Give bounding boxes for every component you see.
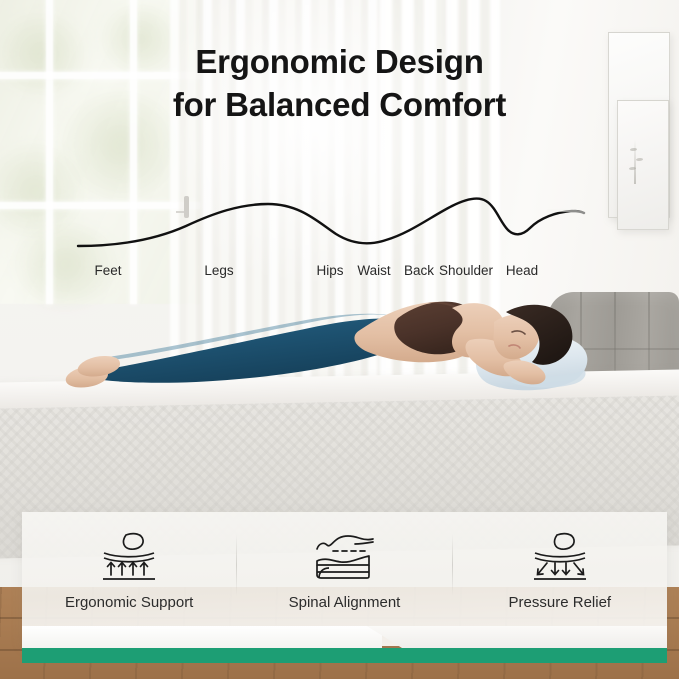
feature-label: Spinal Alignment [289,594,401,611]
label-back: Back [404,263,434,278]
pressure-relief-icon [529,530,591,582]
label-hips: Hips [316,263,343,278]
panel-bevel-left [22,626,382,648]
feature-pressure-relief: Pressure Relief [453,512,667,626]
curve-marker-icon [176,196,189,218]
label-head: Head [506,263,538,278]
accent-bar [22,648,667,663]
feature-spinal-alignment: Spinal Alignment [237,512,451,626]
label-feet: Feet [94,263,121,278]
feature-label: Ergonomic Support [65,594,193,611]
label-shoulder: Shoulder [439,263,493,278]
label-legs: Legs [204,263,233,278]
feature-label: Pressure Relief [509,594,612,611]
ergonomic-support-icon [98,530,160,582]
feature-list: Ergonomic Support Spinal [22,512,667,626]
label-waist: Waist [357,263,390,278]
product-hero-image: Ergonomic Design for Balanced Comfort Fe… [0,0,679,679]
feature-ergonomic-support: Ergonomic Support [22,512,236,626]
spinal-alignment-icon [311,530,377,582]
body-part-labels: Feet Legs Hips Waist Back Shoulder Head [0,263,679,285]
